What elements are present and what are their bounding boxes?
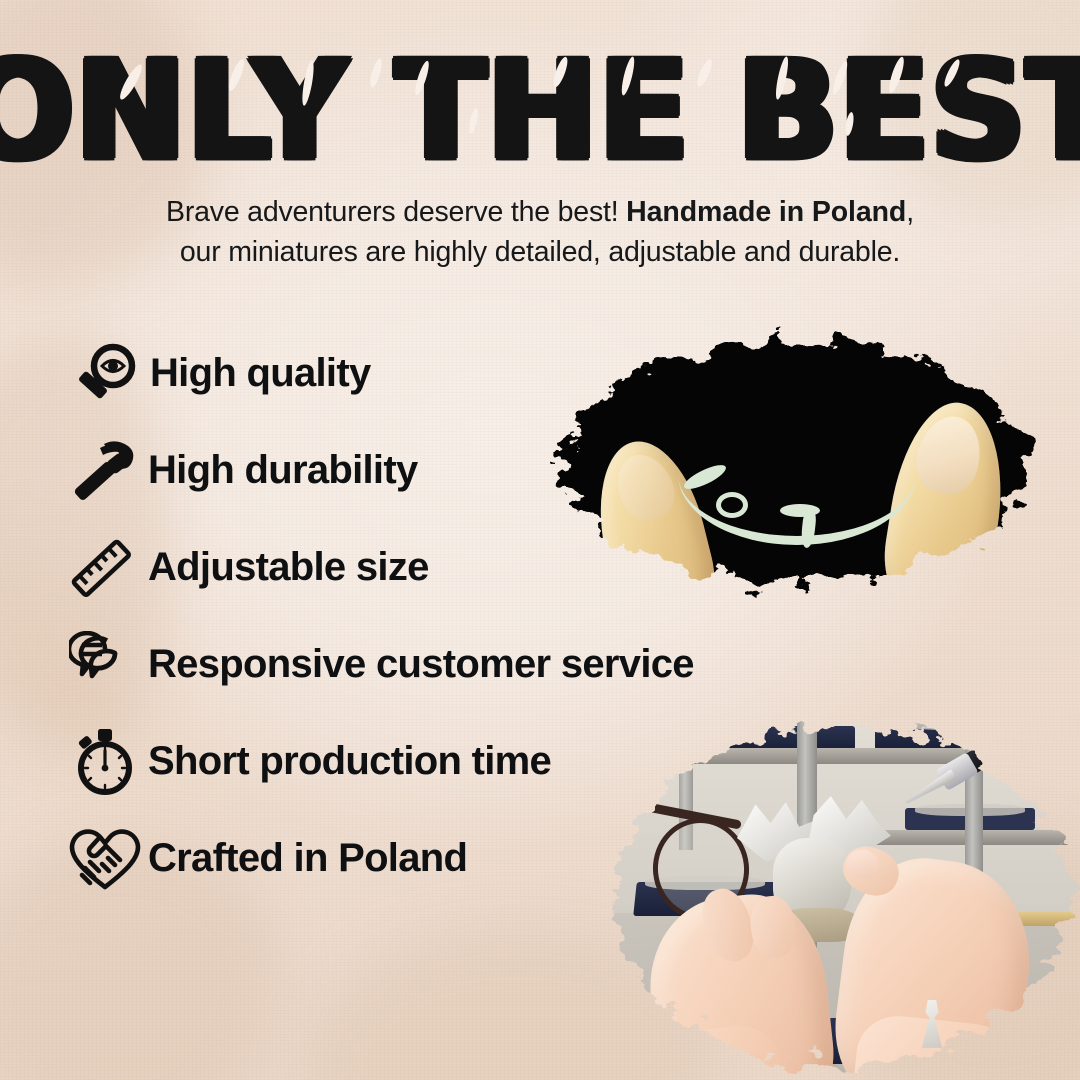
subtitle-comma: , bbox=[906, 196, 914, 228]
feature-label: Short production time bbox=[148, 739, 551, 784]
ruler-icon bbox=[58, 529, 144, 607]
feature-label: Adjustable size bbox=[148, 545, 429, 590]
stopwatch-icon bbox=[62, 723, 148, 801]
feature-list: High quality High durability bbox=[62, 325, 782, 907]
magnifier-eye-icon bbox=[64, 335, 150, 413]
subtitle-highlight: Handmade in Poland bbox=[626, 196, 906, 228]
subtitle-line-1: Brave adventurers deserve the best! Hand… bbox=[0, 192, 1080, 232]
feature-item-adjustable-size[interactable]: Adjustable size bbox=[62, 519, 782, 616]
speech-bubbles-icon bbox=[62, 626, 148, 704]
feature-item-customer-service[interactable]: Responsive customer service bbox=[62, 616, 782, 713]
feature-item-high-durability[interactable]: High durability bbox=[62, 422, 782, 519]
feature-label: Crafted in Poland bbox=[148, 836, 467, 881]
product-feature-poster: ONLY THE BEST Brave adventurers deserve … bbox=[0, 0, 1080, 1080]
hammer-icon bbox=[62, 432, 148, 510]
feature-item-high-quality[interactable]: High quality bbox=[64, 325, 782, 422]
feature-label: High durability bbox=[148, 448, 418, 493]
subtitle-line-2: our miniatures are highly detailed, adju… bbox=[0, 232, 1080, 272]
subtitle: Brave adventurers deserve the best! Hand… bbox=[0, 192, 1080, 273]
feature-item-crafted-in-poland[interactable]: Crafted in Poland bbox=[62, 810, 782, 907]
headline-area: ONLY THE BEST bbox=[0, 0, 1080, 190]
feature-item-production-time[interactable]: Short production time bbox=[62, 713, 782, 810]
subtitle-lead: Brave adventurers deserve the best! bbox=[166, 196, 618, 228]
feature-label: High quality bbox=[150, 351, 371, 396]
page-title: ONLY THE BEST bbox=[0, 42, 1080, 179]
feature-label: Responsive customer service bbox=[148, 642, 694, 687]
heart-handshake-icon bbox=[62, 820, 148, 898]
